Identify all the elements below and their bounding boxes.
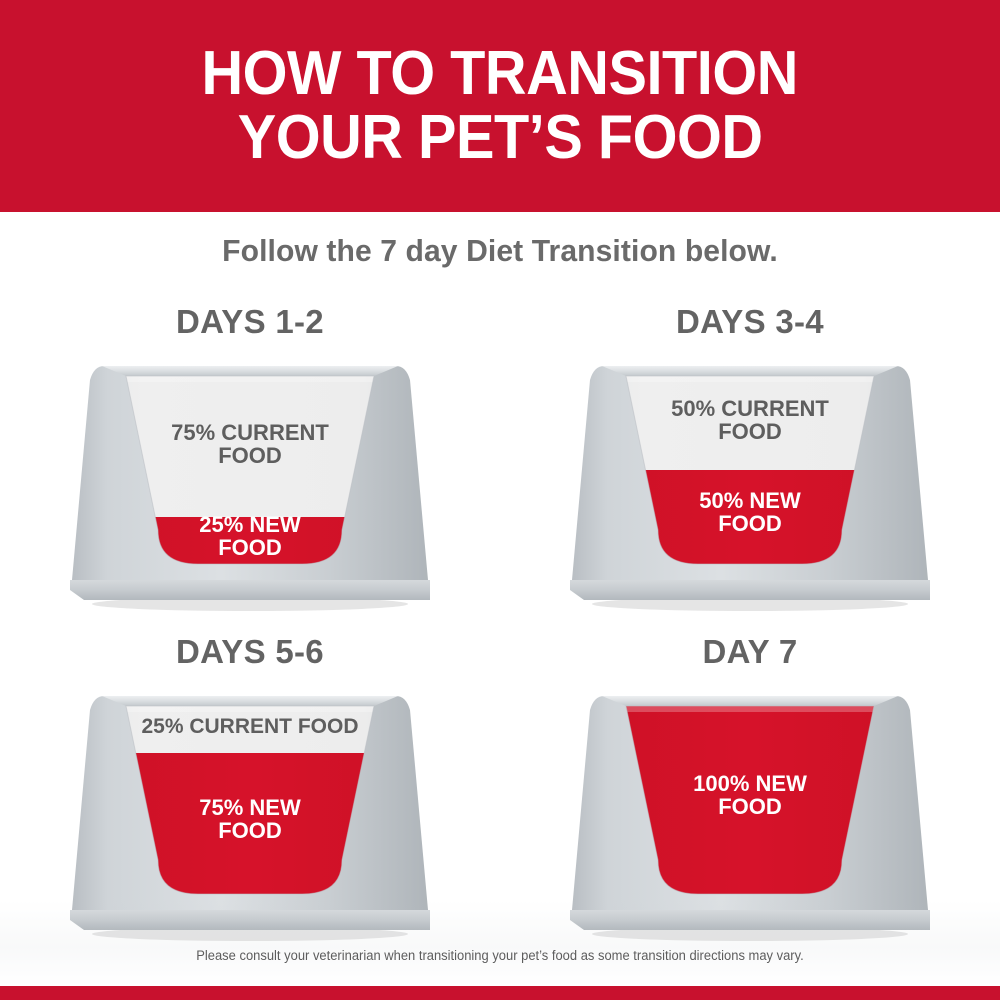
bottom-accent-bar (0, 986, 1000, 1000)
bowl-base (70, 580, 430, 600)
bowl-graphic (570, 682, 930, 946)
transition-step-panel: DAYS 5-6 (0, 630, 500, 950)
infographic-page: HOW TO TRANSITION YOUR PET’S FOOD Follow… (0, 0, 1000, 1000)
transition-step-panel: DAY 7 (500, 630, 1000, 950)
step-day-title: DAYS 5-6 (0, 630, 500, 682)
transition-steps-grid: DAYS 1-2 (0, 300, 1000, 940)
bowl-rim (602, 696, 898, 706)
page-title-line-2: YOUR PET’S FOOD (238, 108, 763, 168)
step-day-title: DAYS 3-4 (500, 300, 1000, 352)
header-banner: HOW TO TRANSITION YOUR PET’S FOOD (0, 0, 1000, 212)
bowl-rim (102, 366, 398, 376)
bowl-base (70, 910, 430, 930)
bowl-rim (102, 696, 398, 706)
disclaimer-text: Please consult your veterinarian when tr… (20, 948, 980, 963)
bowl-graphic (70, 352, 430, 616)
bowl-illustration: 100% NEW FOOD (500, 682, 1000, 946)
bowl-graphic (70, 682, 430, 946)
bowl-illustration: 50% CURRENT FOOD 50% NEW FOOD (500, 352, 1000, 616)
bowl-rim (602, 366, 898, 376)
transition-step-panel: DAYS 1-2 (0, 300, 500, 620)
bowl-base (570, 580, 930, 600)
transition-step-panel: DAYS 3-4 (500, 300, 1000, 620)
bowl-illustration: 75% CURRENT FOOD 25% NEW FOOD (0, 352, 500, 616)
step-day-title: DAY 7 (500, 630, 1000, 682)
bowl-base (570, 910, 930, 930)
page-title-line-1: HOW TO TRANSITION (202, 44, 798, 104)
step-day-title: DAYS 1-2 (0, 300, 500, 352)
subtitle: Follow the 7 day Diet Transition below. (15, 233, 985, 269)
bowl-graphic (570, 352, 930, 616)
bowl-illustration: 25% CURRENT FOOD 75% NEW FOOD (0, 682, 500, 946)
